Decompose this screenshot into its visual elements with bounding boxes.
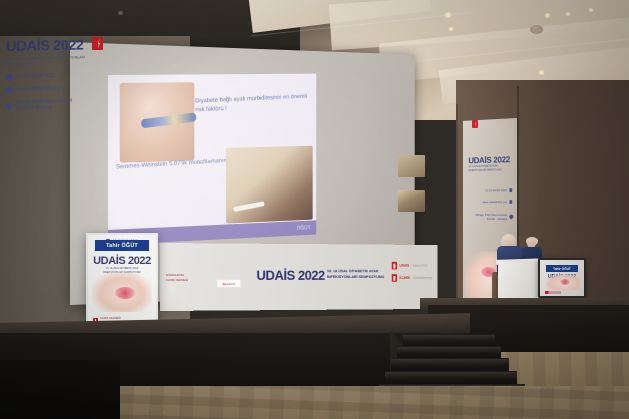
video-thumbnail-speaker <box>398 190 425 212</box>
podium-speaker-name: Tahir ÖĞÜT <box>553 267 571 271</box>
backdrop-subtitle: VII. ULUSAL DİYABETİK AYAK İNFEKSİYONLAR… <box>327 268 388 280</box>
slide-footer-name: ÖĞÜT <box>297 225 317 232</box>
backdrop-social-2-handle: /klimikdernegi <box>413 276 432 280</box>
backdrop-sponsor-logo: Sponsor <box>216 279 241 288</box>
monitor-event-title: UDAİS 2022 <box>88 255 156 267</box>
backdrop-sponsor-label: Sponsor <box>222 281 235 285</box>
side-panel-subtitle: VII. ULUSAL DİYABETİK AYAK İNFEKSİYONLAR… <box>468 165 513 173</box>
stage-backdrop: DÜZENLEYEN KLİMİK DERNEĞİ Sponsor UDAİS … <box>160 243 437 311</box>
podium-speaker-name-bar: Tahir ÖĞÜT <box>546 265 578 272</box>
ceiling-speaker <box>118 11 123 15</box>
confidence-monitor[interactable]: Tahir ÖĞÜT UDAİS 2022 VII. ULUSAL DİYABE… <box>86 233 158 330</box>
side-panel-web-row: www.udais2022.org <box>482 200 512 204</box>
backdrop-social-logos: UDAİS /udais2022 KLİMİK /klimikdernegi <box>391 262 432 282</box>
side-panel-venue-line2: Kemer - Antalya <box>487 217 507 221</box>
backdrop-left-credits: DÜZENLEYEN KLİMİK DERNEĞİ <box>166 273 188 284</box>
monitor-hands-graphic <box>92 272 152 312</box>
backdrop-social-1-handle: /udais2022 <box>412 264 427 268</box>
side-panel-date: 12-15 EKİM 2022 <box>485 188 507 192</box>
podium-monitor-screen: Tahir ÖĞÜT UDAİS 2022 <box>540 260 584 296</box>
side-panel-title: UDAİS 2022 <box>468 154 510 165</box>
hotel-logo-mark-icon <box>472 120 478 128</box>
podium-footer-logo <box>545 291 561 294</box>
backdrop-credit-line2: KLİMİK DERNEĞİ <box>166 278 188 283</box>
screen-banner-web-row: www.udais2022.org <box>6 84 102 93</box>
ceiling-downlight <box>565 12 571 16</box>
screen-banner-subtitle: VII. ULUSAL DİYABETİK AYAK İNFEKSİYONLAR… <box>6 55 95 67</box>
calendar-icon <box>509 188 512 192</box>
globe-icon <box>509 200 512 204</box>
backdrop-title: UDAİS 2022 <box>256 267 324 283</box>
backdrop-social-2: KLİMİK <box>399 276 410 280</box>
slide-photo-right <box>226 146 313 224</box>
stair-step <box>391 358 509 371</box>
slide-headline: Diyabete bağlı ayak morbiditesinin en ön… <box>195 93 312 115</box>
ceiling-downlight <box>444 12 452 18</box>
side-panel-website: www.udais2022.org <box>482 200 507 204</box>
backdrop-social-row-2: KLİMİK /klimikdernegi <box>391 274 432 282</box>
ceiling-downlight <box>588 8 594 12</box>
ceiling-speaker <box>530 25 543 34</box>
screen-banner-date: 12-15 EKİM 2022 <box>16 73 55 80</box>
conference-hall-photo: UDAİS 2022 VII. ULUSAL DİYABETİK AYAK İN… <box>0 0 629 419</box>
backdrop-subtitle-line2: İNFEKSİYONLARI SEMPOZYUMU <box>327 274 384 279</box>
screen-banner-venue-row: Mirage Park Resort Hotel Kemer - Antalya <box>6 97 102 112</box>
social-mark-icon <box>391 274 396 282</box>
foreground-shadow <box>0 360 120 419</box>
podium-monitor[interactable]: Tahir ÖĞÜT UDAİS 2022 <box>538 258 586 298</box>
screen-banner-website: www.udais2022.org <box>16 86 60 93</box>
podium-hands-graphic <box>546 274 580 290</box>
speaker-name-bar: Tahir ÖĞÜT <box>95 240 149 251</box>
screen-banner-venue-line2: Kemer - Antalya <box>16 105 52 112</box>
backdrop-subtitle-line1: VII. ULUSAL DİYABETİK AYAK <box>327 268 379 273</box>
globe-icon <box>6 87 12 93</box>
calendar-icon <box>6 74 12 80</box>
ceiling-downlight <box>538 70 545 75</box>
screen-banner-title: UDAİS 2022 <box>6 36 102 55</box>
location-pin-icon <box>5 102 13 110</box>
side-panel-venue-row: Mirage Park Resort Hotel Kemer - Antalya <box>476 213 513 221</box>
ceiling-downlight <box>544 13 551 18</box>
side-panel-date-row: 12-15 EKİM 2022 <box>485 188 512 192</box>
screen-banner-date-row: 12-15 EKİM 2022 <box>6 72 102 80</box>
video-thumbnail-room <box>398 155 425 177</box>
location-pin-icon <box>508 215 513 220</box>
stair-step <box>397 346 501 358</box>
backdrop-social-row-1: UDAİS /udais2022 <box>391 262 432 270</box>
slide-photo-left <box>120 82 195 162</box>
ceiling-downlight <box>448 27 454 31</box>
backdrop-social-1: UDAİS <box>399 264 409 268</box>
stair-step <box>403 334 495 346</box>
stair-step <box>385 371 517 384</box>
presentation-slide: Diyabete bağlı ayak morbiditesinin en ön… <box>108 74 316 245</box>
monofilament-device <box>141 113 197 129</box>
speaker-name: Tahir ÖĞÜT <box>106 243 138 249</box>
social-mark-icon <box>391 262 396 270</box>
screen-banner: UDAİS 2022 VII. ULUSAL DİYABETİK AYAK İN… <box>6 36 102 163</box>
